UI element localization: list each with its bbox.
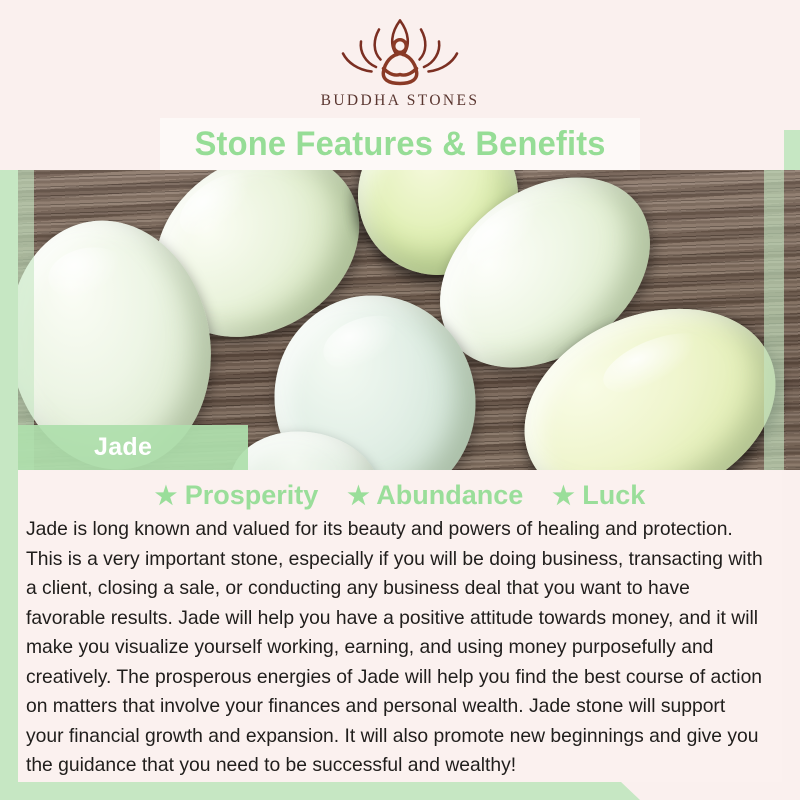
stone-description: Jade is long known and valued for its be… [18,511,778,781]
page-title: Stone Features & Benefits [194,125,605,164]
stone-name-text: Jade [18,433,152,462]
lotus-meditation-icon [325,16,475,88]
decor-strip-left [0,170,18,780]
title-banner: Stone Features & Benefits [160,118,640,170]
content-panel: ★ Prosperity ★ Abundance ★ Luck Jade is … [18,470,782,782]
benefits-list: ★ Prosperity ★ Abundance ★ Luck [18,470,782,511]
stone-name-label: Jade [18,425,248,470]
star-icon: ★ [552,482,574,510]
benefit-item-luck: Luck [582,480,645,510]
star-icon: ★ [347,482,369,510]
benefit-item-abundance: Abundance [376,480,523,510]
star-icon: ★ [155,482,177,510]
decor-strip-right-overlay [764,170,784,470]
brand-name: BUDDHA STONES [321,92,480,110]
benefit-item-prosperity: Prosperity [185,480,319,510]
brand-header: BUDDHA STONES [0,0,800,130]
